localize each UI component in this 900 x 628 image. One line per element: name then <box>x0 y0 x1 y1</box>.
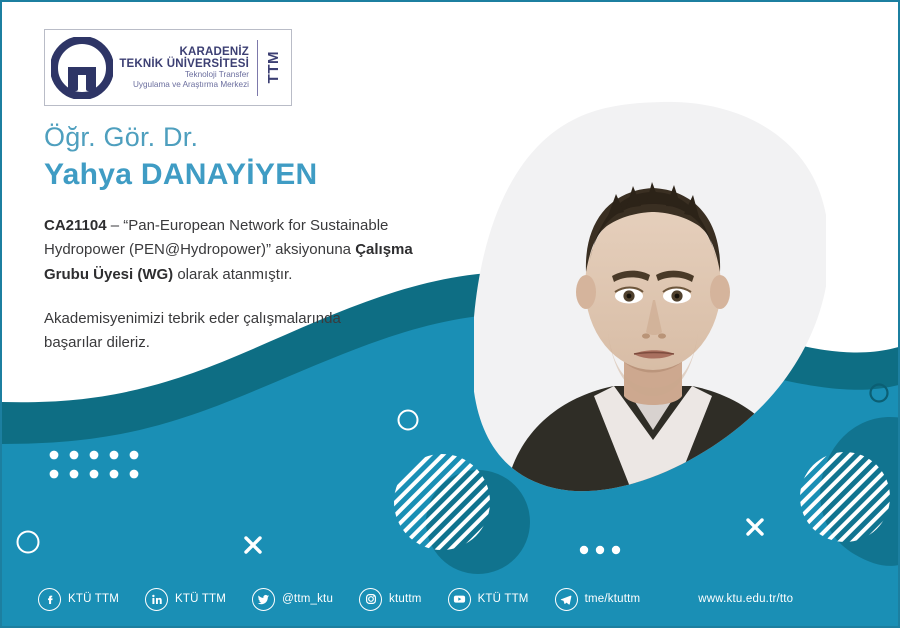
headline-block: Öğr. Gör. Dr. Yahya DANAYİYEN <box>44 122 318 193</box>
linkedin-label: KTÜ TTM <box>175 593 226 605</box>
ktu-ttm-logo: KARADENİZ TEKNİK ÜNİVERSİTESİ Teknoloji … <box>44 29 292 106</box>
youtube-icon <box>448 588 471 611</box>
twitter-icon <box>252 588 275 611</box>
decor-three-dots <box>580 546 620 554</box>
twitter-label: @ttm_ktu <box>282 593 333 605</box>
action-code: CA21104 <box>44 217 107 234</box>
facebook-icon <box>38 588 61 611</box>
person-name: Yahya DANAYİYEN <box>44 157 318 193</box>
logo-text-block: KARADENİZ TEKNİK ÜNİVERSİTESİ Teknoloji … <box>113 46 253 89</box>
social-item-youtube[interactable]: KTÜ TTM <box>448 588 529 611</box>
instagram-label: ktuttm <box>389 593 422 605</box>
announcement-paragraph-2: Akademisyenimizi tebrik eder çalışmaları… <box>44 307 384 356</box>
telegram-icon <box>555 588 578 611</box>
telegram-label: tme/ktuttm <box>585 593 641 605</box>
instagram-icon <box>359 588 382 611</box>
linkedin-icon <box>145 588 168 611</box>
ktu-circle-logo-icon <box>51 37 113 99</box>
social-item-instagram[interactable]: ktuttm <box>359 588 422 611</box>
website-url[interactable]: www.ktu.edu.tr/tto <box>698 593 793 605</box>
logo-ttm-vertical: TTM <box>265 51 282 83</box>
action-segment-2: olarak atanmıştır. <box>173 266 292 283</box>
logo-line-2: TEKNİK ÜNİVERSİTESİ <box>113 58 249 70</box>
youtube-label: KTÜ TTM <box>478 593 529 605</box>
logo-line-4: Uygulama ve Araştırma Merkezi <box>113 81 249 90</box>
social-item-twitter[interactable]: @ttm_ktu <box>252 588 333 611</box>
logo-line-3: Teknoloji Transfer <box>113 71 249 80</box>
social-footer: KTÜ TTM KTÜ TTM @ttm_ktu ktuttm KTÜ TTM <box>2 572 900 626</box>
portrait-blob-svg <box>474 100 826 502</box>
logo-line-1: KARADENİZ <box>113 46 249 58</box>
social-item-facebook[interactable]: KTÜ TTM <box>38 588 119 611</box>
academic-title: Öğr. Gör. Dr. <box>44 122 318 153</box>
facebook-label: KTÜ TTM <box>68 593 119 605</box>
logo-divider <box>257 40 258 96</box>
social-item-telegram[interactable]: tme/ktuttm <box>555 588 641 611</box>
social-item-linkedin[interactable]: KTÜ TTM <box>145 588 226 611</box>
poster-canvas: KARADENİZ TEKNİK ÜNİVERSİTESİ Teknoloji … <box>0 0 900 628</box>
portrait-photo <box>474 100 826 502</box>
announcement-paragraph-1: CA21104 – “Pan-European Network for Sust… <box>44 214 444 287</box>
